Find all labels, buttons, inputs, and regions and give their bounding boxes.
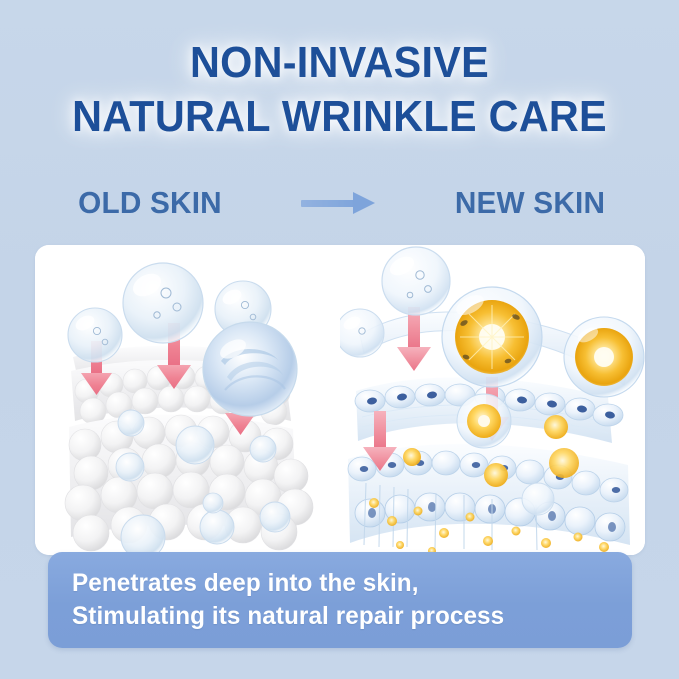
headline-block: NON-INVASIVE NATURAL WRINKLE CARE	[0, 40, 679, 140]
headline-line-2: NATURAL WRINKLE CARE	[20, 94, 658, 140]
caption-line-1: Penetrates deep into the skin,	[72, 567, 615, 601]
new-skin-label: NEW SKIN	[427, 185, 632, 221]
arrow-head	[353, 192, 375, 214]
illustration-panel	[35, 245, 645, 555]
headline-line-1: NON-INVASIVE	[20, 40, 658, 86]
poster-root: NON-INVASIVE NATURAL WRINKLE CARE OLD SK…	[0, 0, 679, 679]
old-skin-illustration	[35, 245, 340, 555]
swirl-sphere	[203, 322, 297, 416]
caption-line-2: Stimulating its natural repair process	[72, 600, 615, 634]
new-skin-illustration	[340, 245, 645, 555]
old-skin-label: OLD SKIN	[47, 185, 252, 221]
caption-banner: Penetrates deep into the skin, Stimulati…	[48, 552, 632, 648]
comparison-row: OLD SKIN NEW SKIN	[0, 180, 679, 226]
arrow-shaft	[301, 200, 357, 207]
arrow-right-icon	[297, 188, 383, 218]
